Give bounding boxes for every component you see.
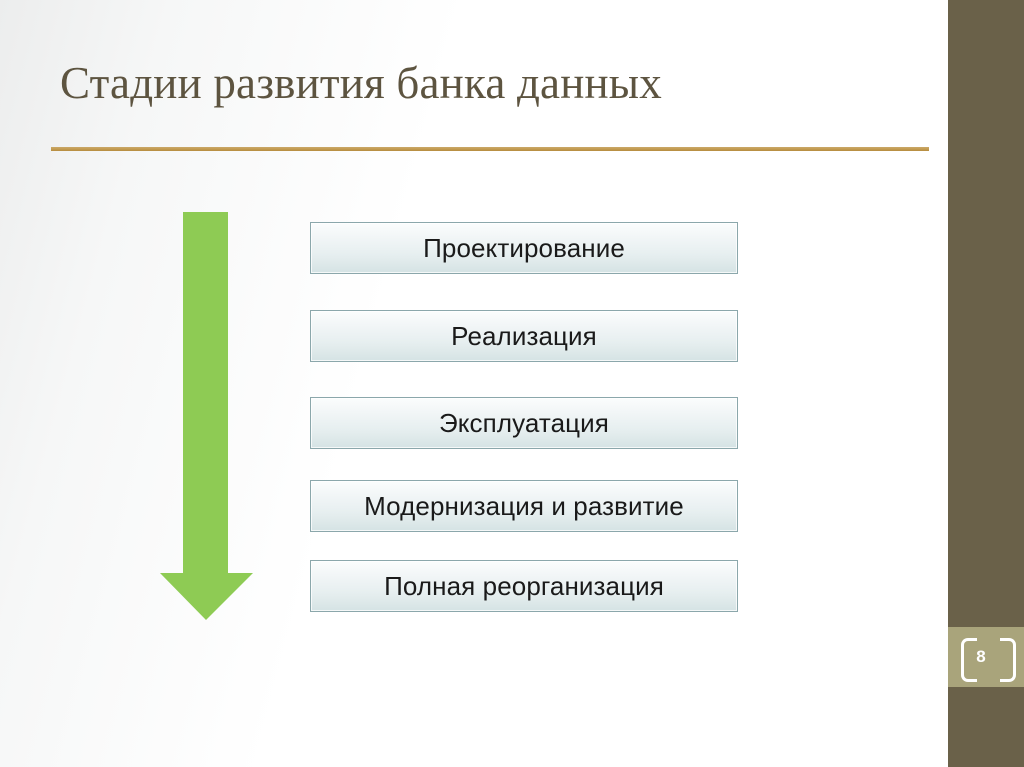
stage-label: Модернизация и развитие: [364, 491, 684, 522]
down-arrow-icon: [160, 210, 254, 622]
stage-box-5[interactable]: Полная реорганизация: [310, 560, 738, 612]
stage-label: Полная реорганизация: [384, 571, 664, 602]
stage-label: Эксплуатация: [439, 408, 609, 439]
stage-box-4[interactable]: Модернизация и развитие: [310, 480, 738, 532]
title-underline-rule: [51, 147, 929, 151]
slide-title: Стадии развития банка данных: [60, 57, 900, 109]
stage-label: Проектирование: [423, 233, 625, 264]
stage-label: Реализация: [451, 321, 597, 352]
presentation-slide: 8 Стадии развития банка данных Проектиро…: [0, 0, 1024, 767]
page-number-badge: 8: [948, 627, 1024, 687]
page-number-text: 8: [948, 627, 1014, 687]
stage-box-3[interactable]: Эксплуатация: [310, 397, 738, 449]
stage-box-1[interactable]: Проектирование: [310, 222, 738, 274]
stage-box-2[interactable]: Реализация: [310, 310, 738, 362]
